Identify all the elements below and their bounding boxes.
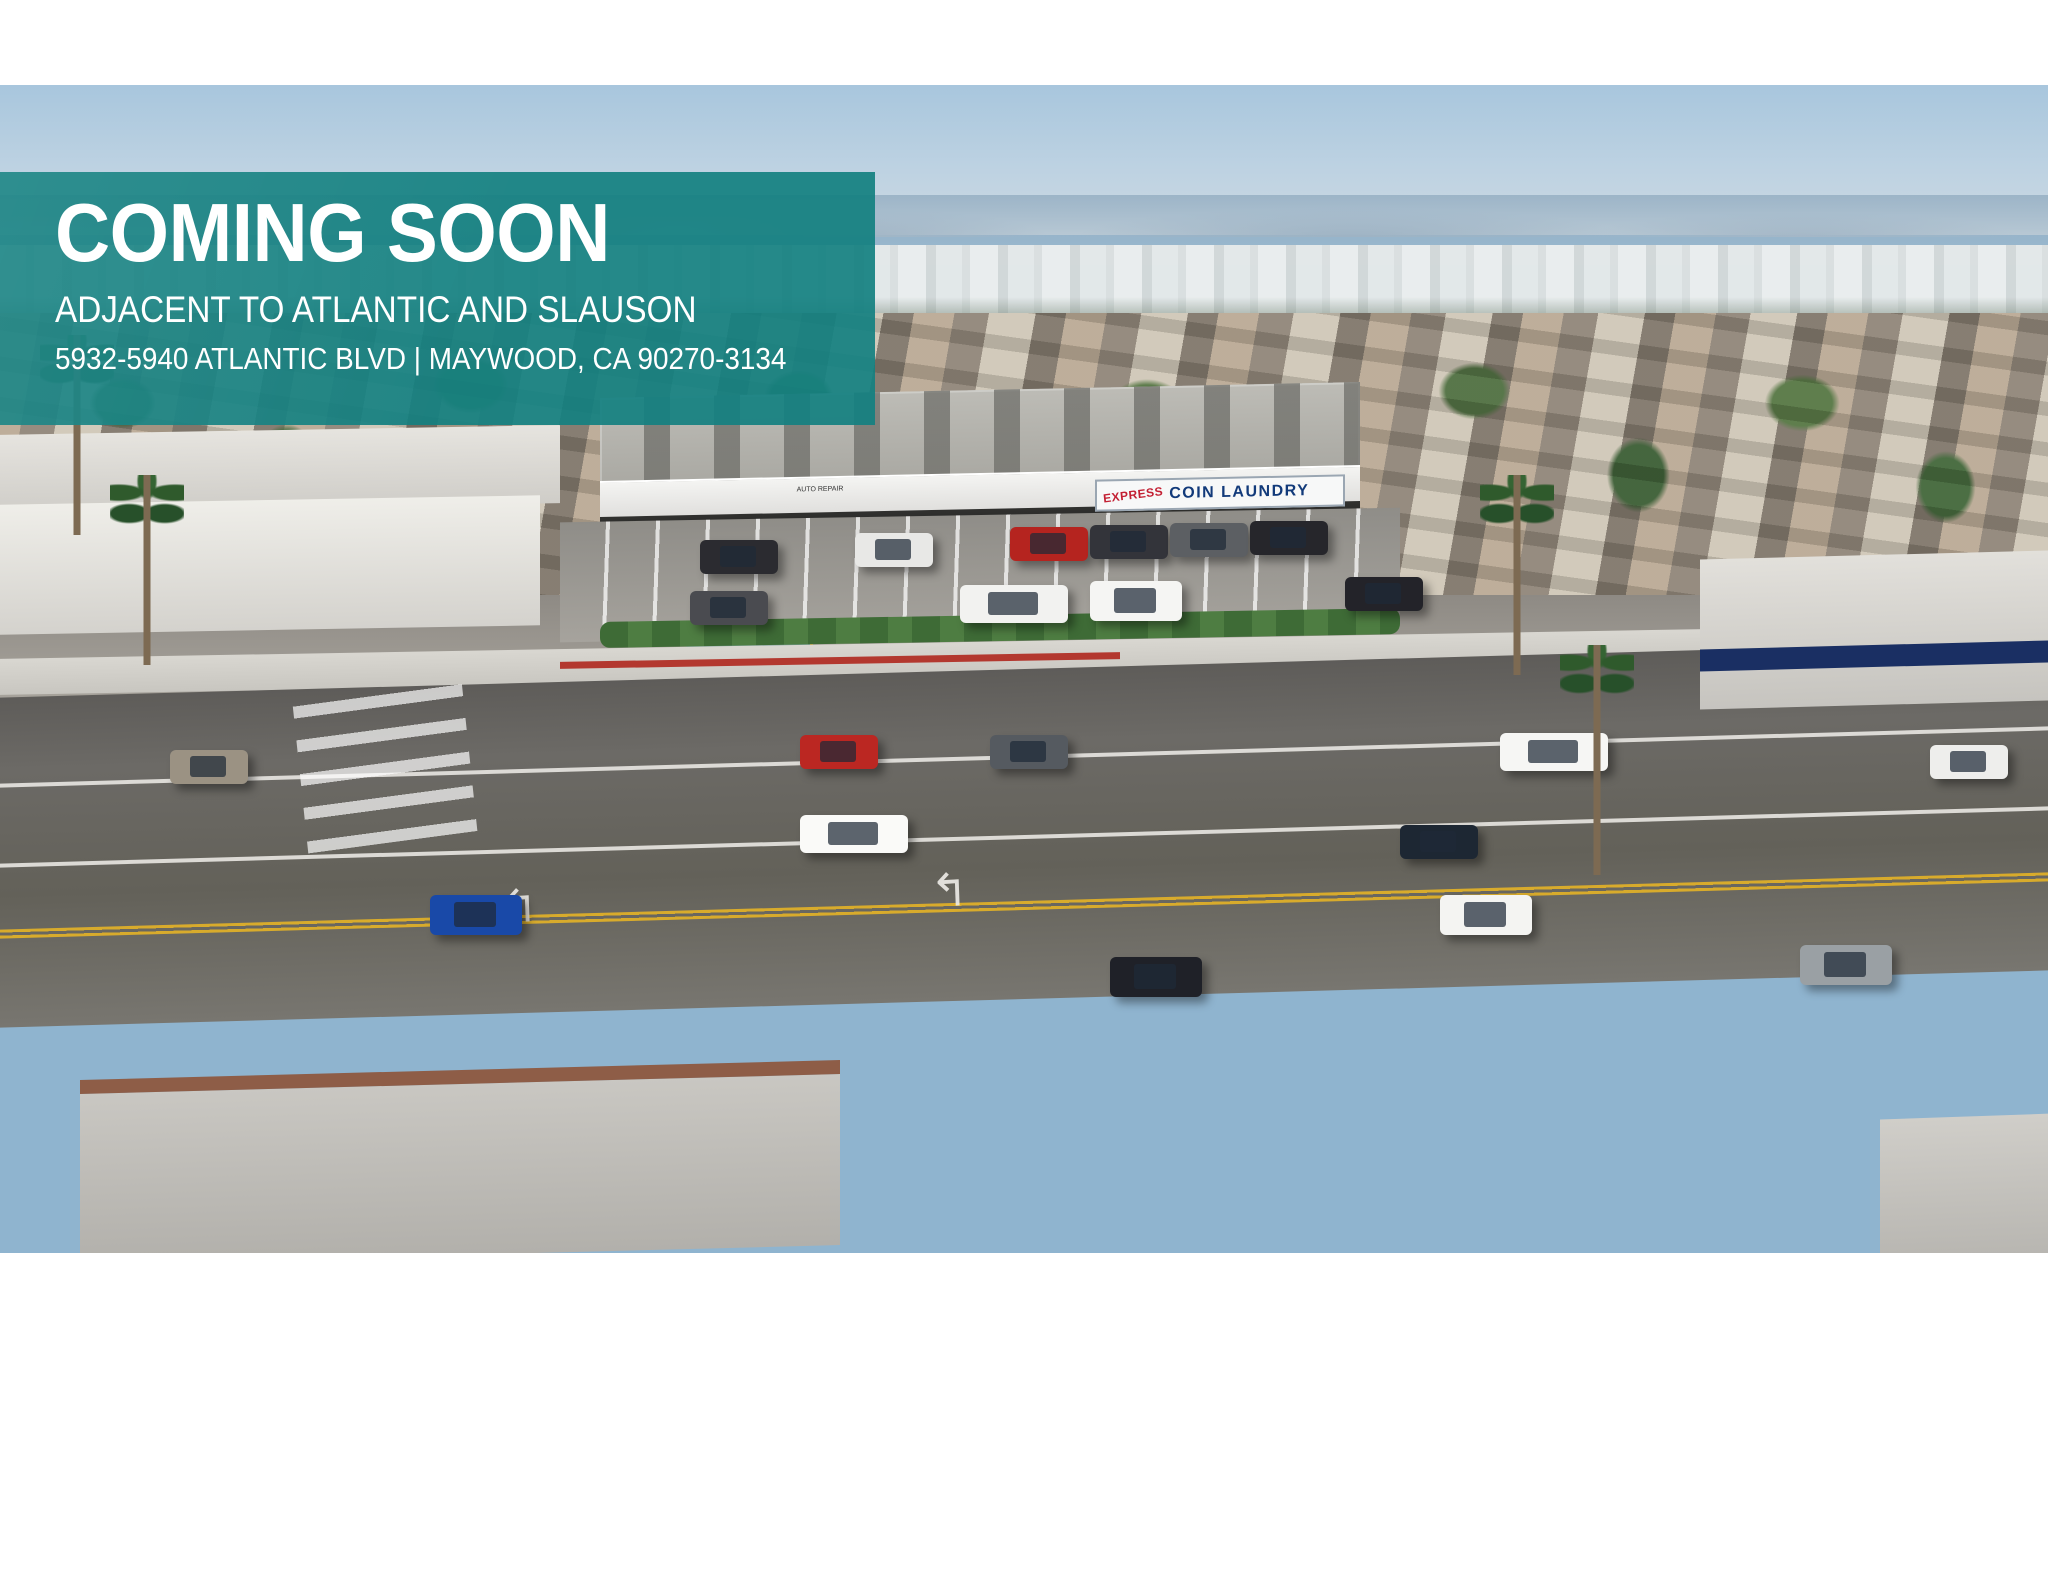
car-window <box>190 756 226 777</box>
car-window <box>720 546 756 567</box>
foreground-rooftop-right <box>1880 1110 2048 1253</box>
banner-title: COMING SOON <box>55 194 809 271</box>
car-window <box>820 741 856 762</box>
car-window <box>1114 588 1156 613</box>
palm-tree <box>1480 475 1554 675</box>
coin-laundry-sign: EXPRESS COIN LAUNDRY <box>1095 474 1345 511</box>
car-window <box>1190 529 1226 550</box>
car-window <box>1950 751 1986 772</box>
car-window <box>1134 964 1176 989</box>
car-window <box>1464 902 1506 927</box>
parked-car <box>690 591 768 625</box>
banner-address: 5932-5940 ATLANTIC BLVD | MAYWOOD, CA 90… <box>55 340 793 378</box>
foreground-rooftop <box>80 1060 840 1253</box>
crosswalk-markings <box>293 682 478 853</box>
palm-tree <box>110 475 184 665</box>
car-window <box>1824 952 1866 977</box>
moving-car <box>1110 957 1202 997</box>
tenant-sign-label: AUTO REPAIR <box>797 486 844 494</box>
car-window <box>710 597 746 618</box>
left-turn-arrow-marking: ↰ <box>929 866 969 914</box>
moving-car <box>1400 825 1478 859</box>
parked-car <box>1090 525 1168 559</box>
car-window <box>1030 533 1066 554</box>
palm-trunk <box>1514 475 1521 675</box>
flyer-page: AUTO REPAIR EXPRESS COIN LAUNDRY <box>0 0 2048 1583</box>
moving-car <box>170 750 248 784</box>
car-window <box>1110 531 1146 552</box>
parked-car <box>700 540 778 574</box>
car-window <box>454 902 496 927</box>
footer: GEOFFREY GROSSMAN CALDRE #1265002 310.29… <box>0 1253 2048 1583</box>
palm-tree <box>1560 645 1634 875</box>
laundry-express-badge: EXPRESS <box>1102 484 1163 505</box>
moving-car <box>1440 895 1532 935</box>
laundry-sign-label: COIN LAUNDRY <box>1169 482 1309 503</box>
palm-trunk <box>1594 645 1601 875</box>
car-window <box>1365 583 1401 604</box>
car-window <box>1010 741 1046 762</box>
parked-car <box>1170 523 1248 557</box>
car-window <box>1270 527 1306 548</box>
car-window <box>828 822 878 846</box>
parked-car <box>1250 521 1328 555</box>
car-window <box>875 539 911 560</box>
adjacent-building-right <box>1700 550 2048 709</box>
moving-car <box>1930 745 2008 779</box>
banner-subtitle: ADJACENT TO ATLANTIC AND SLAUSON <box>55 287 793 332</box>
palm-trunk <box>144 475 151 665</box>
moving-car <box>430 895 522 935</box>
center-double-yellow-line <box>0 872 2048 938</box>
parked-truck <box>1090 581 1182 621</box>
coming-soon-banner: COMING SOON ADJACENT TO ATLANTIC AND SLA… <box>0 172 875 425</box>
parked-car <box>855 533 933 567</box>
moving-truck <box>800 815 908 853</box>
tenant-sign-auto-repair: AUTO REPAIR <box>760 484 880 507</box>
parked-truck <box>960 585 1068 623</box>
car-window <box>988 592 1038 616</box>
moving-car <box>800 735 878 769</box>
car-window <box>1420 831 1456 852</box>
parked-car <box>1345 577 1423 611</box>
parked-car <box>1010 527 1088 561</box>
moving-car <box>990 735 1068 769</box>
moving-car <box>1800 945 1892 985</box>
